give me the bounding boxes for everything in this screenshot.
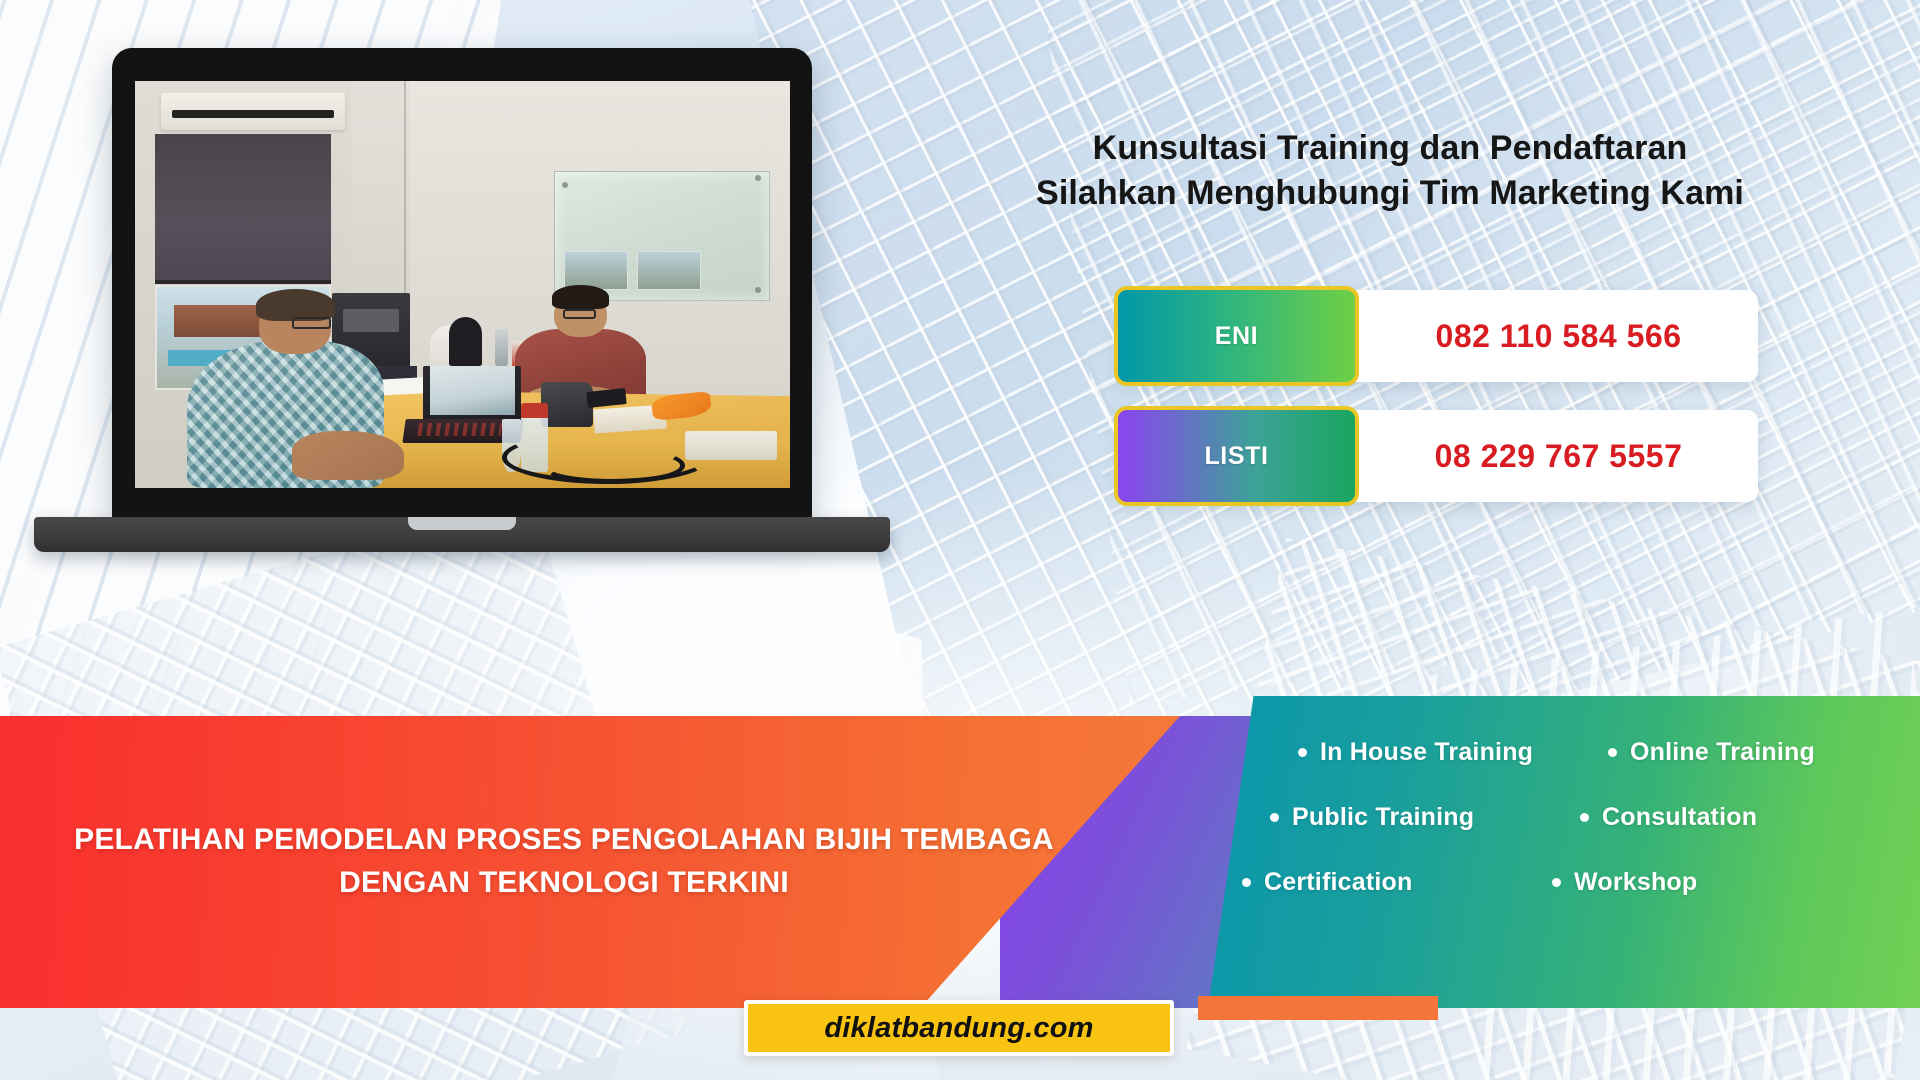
services-panel: In House Training Online Training Public… [1208, 696, 1920, 1008]
laptop-mockup [112, 48, 812, 528]
website-url: diklatbandung.com [824, 1012, 1093, 1045]
contact-card-eni[interactable]: ENI 082 110 584 566 [1118, 290, 1758, 382]
service-label: Consultation [1602, 803, 1757, 832]
laptop-lid [112, 48, 812, 528]
bottom-section: PELATIHAN PEMODELAN PROSES PENGOLAHAN BI… [0, 716, 1920, 1008]
photo-whiteboard-sheet [564, 251, 628, 289]
service-item-online-training[interactable]: Online Training [1608, 738, 1920, 767]
header-line-2: Silahkan Menghubungi Tim Marketing Kami [880, 171, 1900, 216]
service-label: Public Training [1292, 803, 1474, 832]
service-label: Online Training [1630, 738, 1815, 767]
service-label: Workshop [1574, 868, 1697, 897]
service-item-public-training[interactable]: Public Training [1270, 803, 1580, 832]
photo-whiteboard [554, 171, 770, 301]
bullet-icon [1552, 878, 1561, 887]
photo-person-right-glasses [563, 309, 596, 320]
photo-person-right-hair [552, 285, 610, 309]
contact-name-badge-listi: LISTI [1114, 406, 1359, 506]
bullet-icon [1580, 813, 1589, 822]
photo-air-conditioner-icon [161, 93, 344, 130]
course-title-line-1: PELATIHAN PEMODELAN PROSES PENGOLAHAN BI… [0, 819, 1128, 862]
course-title: PELATIHAN PEMODELAN PROSES PENGOLAHAN BI… [0, 819, 1128, 904]
photo-whiteboard-screw [755, 175, 761, 181]
service-item-workshop[interactable]: Workshop [1552, 868, 1874, 897]
contact-phone-eni[interactable]: 082 110 584 566 [1359, 290, 1758, 382]
service-item-consultation[interactable]: Consultation [1580, 803, 1902, 832]
contact-card-list: ENI 082 110 584 566 LISTI 08 229 767 555… [1118, 290, 1758, 530]
photo-bottle [495, 329, 508, 366]
photo-chair-black [449, 317, 482, 366]
service-item-in-house-training[interactable]: In House Training [1298, 738, 1608, 767]
photo-window-blind [155, 134, 332, 285]
bullet-icon [1298, 748, 1307, 757]
bullet-icon [1242, 878, 1251, 887]
laptop-screen [135, 81, 790, 488]
orange-accent-tab [1198, 996, 1438, 1020]
bullet-icon [1608, 748, 1617, 757]
laptop-notch [408, 517, 516, 530]
photo-laptop-screen [430, 366, 515, 415]
photo-cable-coil [541, 447, 685, 484]
photo-person-left-arm [292, 431, 403, 480]
photo-bag [541, 382, 593, 427]
photo-whiteboard-sheet [637, 251, 701, 289]
header-line-1: Kunsultasi Training dan Pendaftaran [880, 126, 1900, 171]
contact-phone-listi[interactable]: 08 229 767 5557 [1359, 410, 1758, 502]
photo-projector [685, 431, 777, 459]
contact-header: Kunsultasi Training dan Pendaftaran Sila… [880, 126, 1900, 216]
course-title-line-2: DENGAN TEKNOLOGI TERKINI [0, 862, 1128, 905]
photo-whiteboard-screw [562, 182, 568, 188]
contact-name-badge-eni: ENI [1114, 286, 1359, 386]
photo-whiteboard-screw [755, 287, 761, 293]
website-badge[interactable]: diklatbandung.com [744, 1000, 1174, 1056]
service-label: In House Training [1320, 738, 1533, 767]
bullet-icon [1270, 813, 1279, 822]
photo-person-left-glasses [292, 317, 331, 329]
contact-card-listi[interactable]: LISTI 08 229 767 5557 [1118, 410, 1758, 502]
services-grid: In House Training Online Training Public… [1270, 738, 1902, 897]
training-room-photo [135, 81, 790, 488]
service-label: Certification [1264, 868, 1412, 897]
service-item-certification[interactable]: Certification [1242, 868, 1552, 897]
